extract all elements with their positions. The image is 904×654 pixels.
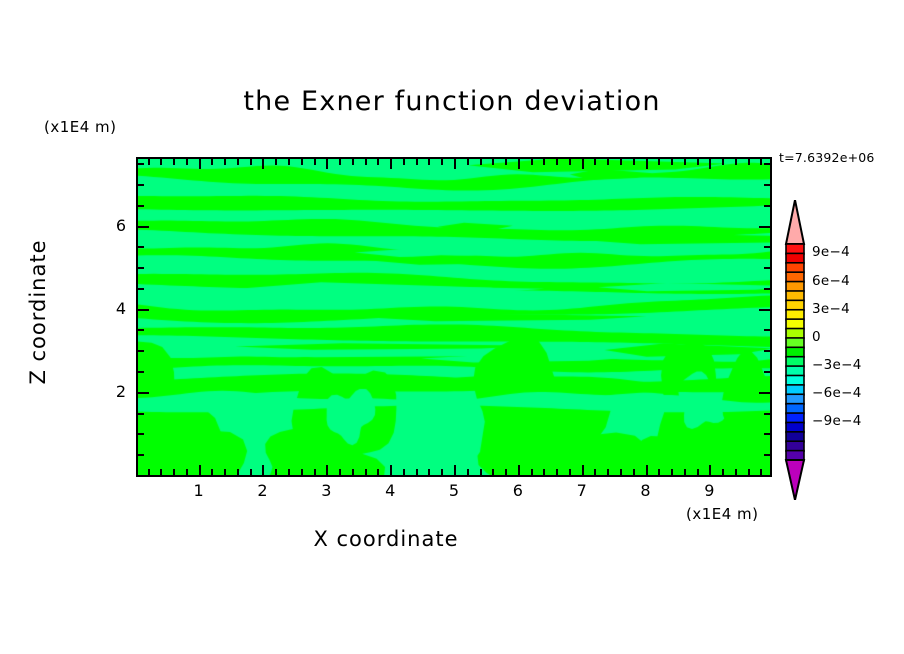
x-minor-tick — [760, 469, 762, 475]
colorbar-tick-label: −6e−4 — [812, 385, 862, 401]
x-minor-tick — [620, 159, 622, 165]
colorbar-band — [786, 441, 804, 451]
colorbar-band — [786, 300, 804, 310]
x-minor-tick — [722, 469, 724, 475]
y-minor-tick — [764, 454, 770, 456]
colorbar-band — [786, 338, 804, 348]
x-minor-tick — [697, 469, 699, 475]
x-minor-tick — [492, 469, 494, 475]
x-minor-tick — [556, 469, 558, 475]
colorbar-band — [786, 422, 804, 432]
y-minor-tick — [764, 288, 770, 290]
x-minor-tick — [620, 469, 622, 475]
x-minor-tick — [377, 469, 379, 475]
x-minor-tick — [505, 159, 507, 165]
figure-root: the Exner function deviation (x1E4 m) t=… — [0, 0, 904, 654]
x-minor-tick — [403, 469, 405, 475]
timestamp-annotation: t=7.6392e+06 — [779, 150, 875, 165]
x-major-tick — [390, 465, 392, 475]
x-minor-tick — [531, 159, 533, 165]
y-minor-tick — [138, 433, 144, 435]
x-minor-tick — [594, 159, 596, 165]
x-minor-tick — [684, 469, 686, 475]
x-major-tick — [262, 465, 264, 475]
x-tick-label: 3 — [311, 481, 341, 500]
x-minor-tick — [365, 469, 367, 475]
x-minor-tick — [211, 469, 213, 475]
x-minor-tick — [697, 159, 699, 165]
x-minor-tick — [748, 159, 750, 165]
x-major-tick — [262, 159, 264, 169]
x-minor-tick — [441, 159, 443, 165]
colorbar-band — [786, 253, 804, 263]
colorbar-tick-label: 9e−4 — [812, 244, 850, 260]
x-axis-title: X coordinate — [0, 527, 772, 551]
x-minor-tick — [492, 159, 494, 165]
x-tick-label: 1 — [184, 481, 214, 500]
y-minor-tick — [138, 371, 144, 373]
colorbar-under-cap — [786, 460, 804, 500]
y-minor-tick — [764, 329, 770, 331]
x-minor-tick — [543, 469, 545, 475]
x-minor-tick — [352, 159, 354, 165]
x-minor-tick — [760, 159, 762, 165]
x-minor-tick — [505, 469, 507, 475]
x-minor-tick — [288, 469, 290, 475]
x-minor-tick — [607, 159, 609, 165]
x-tick-label: 8 — [631, 481, 661, 500]
colorbar-band — [786, 375, 804, 385]
contour-plot-area — [136, 157, 772, 477]
y-major-tick — [759, 392, 770, 394]
colorbar-band — [786, 291, 804, 301]
x-minor-tick — [314, 159, 316, 165]
x-minor-tick — [480, 159, 482, 165]
x-minor-tick — [735, 469, 737, 475]
colorbar-band — [786, 310, 804, 320]
y-major-tick — [138, 392, 149, 394]
y-minor-tick — [138, 267, 144, 269]
x-minor-tick — [556, 159, 558, 165]
x-major-tick — [390, 159, 392, 169]
x-axis-unit-label: (x1E4 m) — [686, 505, 759, 523]
x-minor-tick — [403, 159, 405, 165]
y-minor-tick — [138, 413, 144, 415]
colorbar-band — [786, 282, 804, 292]
colorbar-band — [786, 432, 804, 442]
x-minor-tick — [186, 159, 188, 165]
x-minor-tick — [658, 159, 660, 165]
x-minor-tick — [569, 469, 571, 475]
y-major-tick — [759, 309, 770, 311]
y-minor-tick — [138, 246, 144, 248]
x-minor-tick — [173, 159, 175, 165]
colorbar-tick-label: 6e−4 — [812, 273, 850, 289]
y-major-tick — [759, 226, 770, 228]
y-minor-tick — [138, 205, 144, 207]
x-minor-tick — [416, 469, 418, 475]
colorbar-band — [786, 319, 804, 329]
x-minor-tick — [722, 159, 724, 165]
x-minor-tick — [211, 159, 213, 165]
colorbar-band — [786, 272, 804, 282]
x-minor-tick — [441, 469, 443, 475]
colorbar-band — [786, 263, 804, 273]
x-minor-tick — [160, 469, 162, 475]
x-minor-tick — [186, 469, 188, 475]
x-minor-tick — [148, 469, 150, 475]
x-major-tick — [518, 465, 520, 475]
x-minor-tick — [250, 469, 252, 475]
colorbar-svg — [782, 200, 808, 500]
colorbar-tick-label: 3e−4 — [812, 301, 850, 317]
colorbar-band — [786, 244, 804, 254]
colorbar-band — [786, 385, 804, 395]
x-minor-tick — [735, 159, 737, 165]
colorbar-band — [786, 329, 804, 339]
x-major-tick — [454, 465, 456, 475]
x-major-tick — [582, 465, 584, 475]
x-major-tick — [709, 465, 711, 475]
y-minor-tick — [138, 350, 144, 352]
x-minor-tick — [543, 159, 545, 165]
x-major-tick — [646, 465, 648, 475]
x-minor-tick — [633, 469, 635, 475]
x-minor-tick — [607, 469, 609, 475]
x-tick-label: 2 — [247, 481, 277, 500]
x-tick-label: 4 — [375, 481, 405, 500]
colorbar-band — [786, 357, 804, 367]
x-minor-tick — [531, 469, 533, 475]
y-axis-title: Z coordinate — [26, 212, 50, 412]
x-minor-tick — [237, 469, 239, 475]
y-minor-tick — [764, 246, 770, 248]
x-major-tick — [454, 159, 456, 169]
colorbar-over-cap — [786, 200, 804, 244]
x-major-tick — [582, 159, 584, 169]
colorbar-tick-label: 0 — [812, 329, 821, 345]
y-major-tick — [138, 226, 149, 228]
x-minor-tick — [160, 159, 162, 165]
x-minor-tick — [275, 159, 277, 165]
page-title: the Exner function deviation — [0, 86, 904, 117]
x-tick-label: 7 — [567, 481, 597, 500]
y-major-tick — [138, 309, 149, 311]
y-minor-tick — [138, 329, 144, 331]
x-minor-tick — [173, 469, 175, 475]
y-minor-tick — [138, 184, 144, 186]
y-minor-tick — [138, 288, 144, 290]
y-tick-label: 2 — [104, 382, 126, 401]
x-minor-tick — [275, 469, 277, 475]
y-minor-tick — [764, 350, 770, 352]
x-minor-tick — [467, 469, 469, 475]
colorbar-tick-label: −3e−4 — [812, 357, 862, 373]
x-minor-tick — [224, 469, 226, 475]
x-major-tick — [326, 465, 328, 475]
colorbar-tick-label: −9e−4 — [812, 413, 862, 429]
x-minor-tick — [428, 469, 430, 475]
x-minor-tick — [148, 159, 150, 165]
y-minor-tick — [764, 413, 770, 415]
x-minor-tick — [339, 469, 341, 475]
x-minor-tick — [480, 469, 482, 475]
colorbar-band — [786, 413, 804, 423]
x-minor-tick — [594, 469, 596, 475]
x-major-tick — [199, 159, 201, 169]
colorbar-band — [786, 366, 804, 376]
y-minor-tick — [764, 163, 770, 165]
x-major-tick — [199, 465, 201, 475]
y-minor-tick — [764, 267, 770, 269]
x-minor-tick — [428, 159, 430, 165]
colorbar-band — [786, 347, 804, 357]
y-minor-tick — [764, 184, 770, 186]
x-major-tick — [326, 159, 328, 169]
x-minor-tick — [671, 469, 673, 475]
x-minor-tick — [365, 159, 367, 165]
x-major-tick — [709, 159, 711, 169]
x-tick-label: 6 — [503, 481, 533, 500]
y-tick-label: 4 — [104, 299, 126, 318]
x-minor-tick — [314, 469, 316, 475]
x-tick-label: 5 — [439, 481, 469, 500]
y-minor-tick — [138, 163, 144, 165]
y-minor-tick — [138, 454, 144, 456]
y-minor-tick — [764, 205, 770, 207]
x-major-tick — [646, 159, 648, 169]
x-tick-label: 9 — [694, 481, 724, 500]
x-minor-tick — [569, 159, 571, 165]
colorbar — [782, 200, 808, 500]
y-minor-tick — [764, 371, 770, 373]
x-minor-tick — [301, 159, 303, 165]
x-minor-tick — [684, 159, 686, 165]
contour-field — [138, 159, 770, 475]
x-minor-tick — [748, 469, 750, 475]
x-minor-tick — [467, 159, 469, 165]
x-minor-tick — [671, 159, 673, 165]
x-minor-tick — [658, 469, 660, 475]
x-minor-tick — [237, 159, 239, 165]
x-minor-tick — [377, 159, 379, 165]
x-minor-tick — [250, 159, 252, 165]
y-minor-tick — [764, 433, 770, 435]
y-tick-label: 6 — [104, 216, 126, 235]
x-minor-tick — [339, 159, 341, 165]
x-major-tick — [518, 159, 520, 169]
x-minor-tick — [288, 159, 290, 165]
colorbar-band — [786, 404, 804, 414]
x-minor-tick — [224, 159, 226, 165]
x-minor-tick — [416, 159, 418, 165]
y-axis-unit-label: (x1E4 m) — [44, 118, 117, 136]
x-minor-tick — [633, 159, 635, 165]
x-minor-tick — [301, 469, 303, 475]
x-minor-tick — [352, 469, 354, 475]
colorbar-band — [786, 394, 804, 404]
